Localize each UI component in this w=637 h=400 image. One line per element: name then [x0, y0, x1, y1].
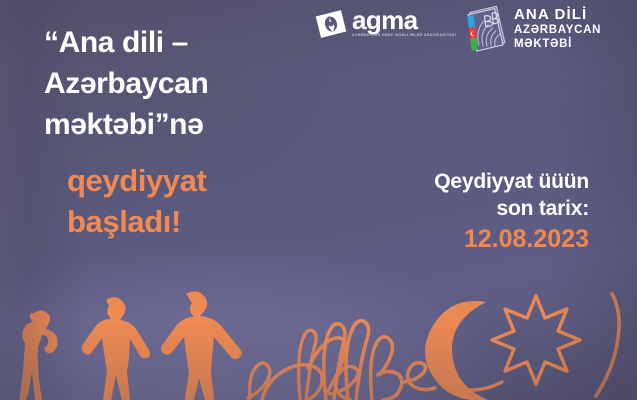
registration-deadline: Qeydiyyat üüün son tarix: 12.08.2023: [339, 168, 589, 255]
adm-line-2: AZƏRBAYCAN: [514, 24, 601, 37]
adm-line-1: ANA DİLİ: [514, 7, 601, 22]
petroglyph-artwork: [0, 250, 637, 400]
petroglyph-figures-icon: [19, 291, 242, 400]
ana-dili-mektebi-logo: ANA DİLİ AZƏRBAYCAN MƏKTƏBİ: [461, 5, 601, 53]
deadline-label-line-2: son tarix:: [339, 195, 589, 222]
headline-line-2: Azərbaycan: [44, 63, 344, 104]
adm-line-3: MƏKTƏBİ: [514, 38, 601, 51]
headline-line-3: məktəbi”nə: [44, 104, 344, 145]
headline-line-1: “Ana dili –: [44, 22, 344, 63]
agma-logo: agma AZƏRBAYCAN GƏNC MÜƏLLİMLƏR ASSOSİAS…: [314, 7, 456, 41]
subheadline-line-1: qeydiyyat: [67, 160, 367, 201]
deadline-label-line-1: Qeydiyyat üüün: [339, 168, 589, 195]
subheadline: qeydiyyat başladı!: [67, 160, 367, 242]
agma-wordmark: agma: [352, 7, 456, 33]
subheadline-line-2: başladı!: [67, 201, 367, 242]
page-title: “Ana dili – Azərbaycan məktəbi”nə: [44, 22, 344, 145]
agma-diamond-icon: [314, 7, 348, 41]
open-book-flag-icon: [461, 5, 507, 53]
agma-subtitle: AZƏRBAYCAN GƏNC MÜƏLLİMLƏR ASSOSİASİYASI: [352, 33, 456, 38]
eight-pointed-star-icon: [492, 296, 580, 384]
deadline-date: 12.08.2023: [339, 224, 589, 255]
promo-banner: “Ana dili – Azərbaycan məktəbi”nə qeydiy…: [0, 0, 637, 400]
